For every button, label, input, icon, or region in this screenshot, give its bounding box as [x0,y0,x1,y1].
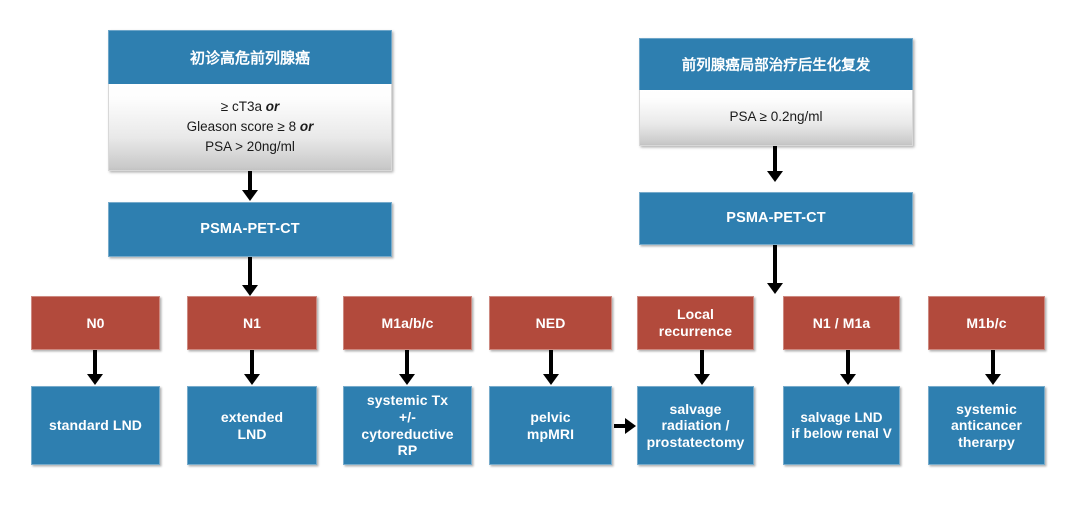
criteria-line-1: ≥ cT3a or [109,97,391,117]
action-salvage-lnd: salvage LND if below renal V [783,386,900,465]
arrow-n1m1a-to-salvage-lnd-head [840,374,856,385]
arrow-left-scan-to-n1-head [242,285,258,296]
action-systemic-anticancer: systemic anticancer therarpy [928,386,1045,465]
arrow-local-recurrence-to-salvage-line [700,350,704,376]
arrow-ned-to-pelvic-mpmri-head [543,374,559,385]
criteria-line-2: Gleason score ≥ 8 or [109,117,391,137]
arrow-n1m1a-to-salvage-lnd-line [846,350,850,376]
stage-m1bc-label: M1b/c [929,315,1044,332]
action-salvage-radiation: salvage radiation / prostatectomy [637,386,754,465]
arrow-m1abc-to-systemic-tx-head [399,374,415,385]
stage-m1bc: M1b/c [928,296,1045,350]
action-standard-lnd: standard LND [31,386,160,465]
stage-n1-label: N1 [188,315,316,332]
action-systemic-tx-label: systemic Tx +/- cytoreductive RP [344,392,471,458]
arrow-ned-to-pelvic-mpmri-line [549,350,553,376]
stage-local-recurrence: Local recurrence [637,296,754,350]
arrow-right-entry-to-scan-line [773,146,777,173]
action-salvage-radiation-label: salvage radiation / prostatectomy [638,401,753,451]
action-systemic-tx: systemic Tx +/- cytoreductive RP [343,386,472,465]
stage-m1abc: M1a/b/c [343,296,472,350]
arrow-m1bc-to-systemic-anticancer-line [991,350,995,376]
left-scan-label: PSMA-PET-CT [109,221,391,238]
stage-n0-label: N0 [32,315,159,332]
arrow-n1-to-extended-lnd-line [250,350,254,376]
right-scan-label: PSMA-PET-CT [640,210,912,227]
left-entry-criteria: ≥ cT3a or Gleason score ≥ 8 or PSA > 20n… [108,84,392,171]
stage-n0: N0 [31,296,160,350]
arrow-right-scan-to-n1m1a-head [767,283,783,294]
arrow-n0-to-standard-lnd-line [93,350,97,376]
arrow-right-entry-to-scan-head [767,171,783,182]
left-scan-node: PSMA-PET-CT [108,202,392,257]
stage-local-recurrence-label: Local recurrence [638,306,753,339]
criteria-line-3: PSA > 20ng/ml [109,137,391,157]
arrow-n0-to-standard-lnd-head [87,374,103,385]
arrow-right-scan-to-n1m1a-line [773,245,777,285]
stage-ned-label: NED [490,315,611,332]
left-entry-card: 初诊高危前列腺癌 ≥ cT3a or Gleason score ≥ 8 or … [108,30,392,171]
right-entry-card: 前列腺癌局部治疗后生化复发 PSA ≥ 0.2ng/ml [639,38,913,146]
right-entry-header: 前列腺癌局部治疗后生化复发 [639,38,913,90]
arrow-n1-to-extended-lnd-head [244,374,260,385]
right-entry-criteria: PSA ≥ 0.2ng/ml [639,90,913,146]
right-criteria-line-1: PSA ≥ 0.2ng/ml [640,107,912,127]
action-pelvic-mpmri: pelvic mpMRI [489,386,612,465]
arrow-m1bc-to-systemic-anticancer-head [985,374,1001,385]
left-entry-header: 初诊高危前列腺癌 [108,30,392,84]
action-systemic-anticancer-label: systemic anticancer therarpy [929,401,1044,451]
stage-n1: N1 [187,296,317,350]
arrow-left-entry-to-scan-head [242,190,258,201]
action-extended-lnd-label: extended LND [188,409,316,442]
arrow-left-scan-to-n1-line [248,257,252,287]
stage-m1abc-label: M1a/b/c [344,315,471,332]
action-extended-lnd: extended LND [187,386,317,465]
stage-n1-m1a: N1 / M1a [783,296,900,350]
action-standard-lnd-label: standard LND [32,417,159,434]
right-scan-node: PSMA-PET-CT [639,192,913,245]
flowchart-canvas: 初诊高危前列腺癌 ≥ cT3a or Gleason score ≥ 8 or … [0,0,1080,512]
stage-n1-m1a-label: N1 / M1a [784,315,899,332]
arrow-m1abc-to-systemic-tx-line [405,350,409,376]
action-salvage-lnd-label: salvage LND if below renal V [784,410,899,442]
arrow-mpmri-to-salvage-head [625,418,636,434]
arrow-local-recurrence-to-salvage-head [694,374,710,385]
stage-ned: NED [489,296,612,350]
action-pelvic-mpmri-label: pelvic mpMRI [490,409,611,442]
